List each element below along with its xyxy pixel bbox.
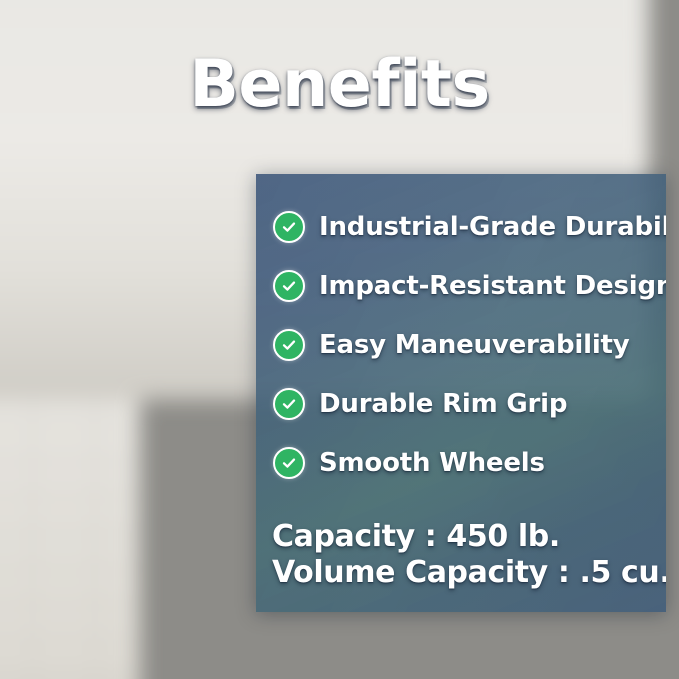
list-item: Durable Rim Grip xyxy=(273,375,665,432)
list-item: Impact-Resistant Design xyxy=(273,257,665,314)
benefit-label: Smooth Wheels xyxy=(319,450,545,476)
cinder-block-wall xyxy=(0,400,140,679)
benefits-panel: Industrial-Grade Durability Impact-Resis… xyxy=(256,174,666,612)
list-item: Smooth Wheels xyxy=(273,434,665,491)
volume-capacity-spec: Volume Capacity : .5 cu. yd xyxy=(272,555,666,590)
product-benefits-graphic: Benefits Industrial-Grade Durability xyxy=(0,0,679,679)
check-circle-icon xyxy=(273,388,305,420)
benefits-list: Industrial-Grade Durability Impact-Resis… xyxy=(273,198,665,491)
check-circle-icon xyxy=(273,211,305,243)
list-item: Easy Maneuverability xyxy=(273,316,665,373)
check-circle-icon xyxy=(273,270,305,302)
specifications-block: Capacity : 450 lb. Volume Capacity : .5 … xyxy=(272,519,666,590)
capacity-spec: Capacity : 450 lb. xyxy=(272,519,666,554)
benefit-label: Impact-Resistant Design xyxy=(319,273,666,299)
check-circle-icon xyxy=(273,447,305,479)
page-title: Benefits xyxy=(0,52,679,117)
list-item: Industrial-Grade Durability xyxy=(273,198,665,255)
benefit-label: Durable Rim Grip xyxy=(319,391,567,417)
check-circle-icon xyxy=(273,329,305,361)
benefit-label: Industrial-Grade Durability xyxy=(319,214,666,240)
benefit-label: Easy Maneuverability xyxy=(319,332,630,358)
